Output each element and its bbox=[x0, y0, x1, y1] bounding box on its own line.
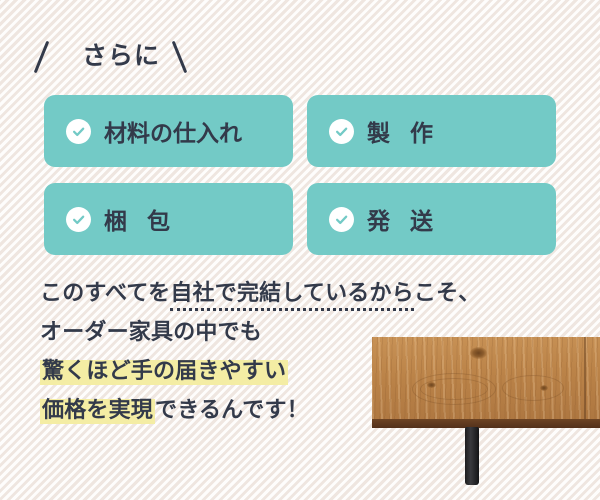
heading-text: さらに bbox=[66, 34, 176, 78]
check-circle-icon bbox=[329, 119, 354, 144]
wood-knot-icon bbox=[470, 347, 487, 359]
step-box-manufacturing[interactable]: 製 作 bbox=[307, 95, 556, 167]
step-box-packaging[interactable]: 梱 包 bbox=[44, 183, 293, 255]
step-box-shipping[interactable]: 発 送 bbox=[307, 183, 556, 255]
check-circle-icon bbox=[66, 119, 91, 144]
black-metal-leg bbox=[465, 427, 479, 485]
copy-line-4-highlight: 価格を実現 bbox=[40, 397, 155, 424]
copy-line-1: このすべてを自社で完結しているからこそ、 bbox=[40, 274, 560, 313]
check-circle-icon bbox=[66, 207, 91, 232]
promo-banner: さらに 材料の仕入れ 製 作 bbox=[0, 0, 600, 500]
step-label: 材料の仕入れ bbox=[104, 114, 242, 148]
copy-line-1-emphasis: 自社で完結しているから bbox=[170, 281, 414, 311]
step-label: 発 送 bbox=[367, 202, 439, 236]
wood-grain bbox=[420, 378, 488, 400]
copy-line-1-start: このすべてを bbox=[40, 281, 170, 306]
copy-line-1-end: こそ、 bbox=[414, 281, 481, 306]
step-label: 梱 包 bbox=[104, 202, 176, 236]
wood-tabletop bbox=[372, 337, 600, 421]
steps-grid: 材料の仕入れ 製 作 梱 包 発 送 bbox=[44, 95, 556, 255]
step-box-material-purchase[interactable]: 材料の仕入れ bbox=[44, 95, 293, 167]
copy-line-4-end: できるんです！ bbox=[155, 398, 309, 423]
wood-panel-seam bbox=[584, 337, 586, 421]
wood-front-edge bbox=[372, 419, 600, 428]
section-heading: さらに bbox=[34, 34, 234, 80]
furniture-photo bbox=[372, 337, 600, 500]
copy-line-3-highlight: 驚くほど手の届きやすい bbox=[40, 358, 288, 385]
slash-decoration-left-icon bbox=[34, 41, 50, 74]
wood-grain bbox=[502, 375, 564, 401]
step-label: 製 作 bbox=[367, 114, 439, 148]
check-circle-icon bbox=[329, 207, 354, 232]
